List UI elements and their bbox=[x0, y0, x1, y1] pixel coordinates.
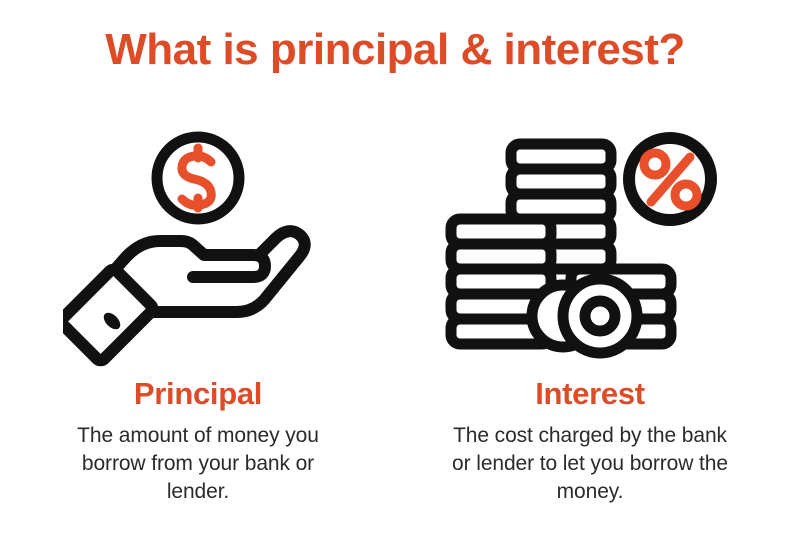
hand-holding-coin-icon bbox=[63, 110, 333, 372]
page-title: What is principal & interest? bbox=[0, 24, 790, 76]
principal-icon-area bbox=[18, 110, 378, 372]
column-principal: Principal The amount of money you borrow… bbox=[18, 110, 378, 520]
body-line: The amount of money you bbox=[24, 422, 372, 450]
front-coin-large-center bbox=[585, 301, 615, 331]
column-interest: Interest The cost charged by the bank or… bbox=[410, 110, 770, 520]
interest-icon-area bbox=[410, 110, 770, 372]
sleeve-cuff bbox=[63, 268, 154, 363]
infographic-canvas: What is principal & interest? bbox=[0, 0, 790, 535]
body-line: or lender to let you borrow the bbox=[416, 450, 764, 478]
body-interest: The cost charged by the bank or lender t… bbox=[410, 422, 770, 506]
body-line: borrow from your bank or bbox=[24, 450, 372, 478]
body-line: money. bbox=[416, 478, 764, 506]
heading-interest: Interest bbox=[410, 376, 770, 412]
body-principal: The amount of money you borrow from your… bbox=[18, 422, 378, 506]
body-line: lender. bbox=[24, 478, 372, 506]
heading-principal: Principal bbox=[18, 376, 378, 412]
coin-stacks-percent-icon bbox=[445, 110, 735, 372]
body-line: The cost charged by the bank bbox=[416, 422, 764, 450]
